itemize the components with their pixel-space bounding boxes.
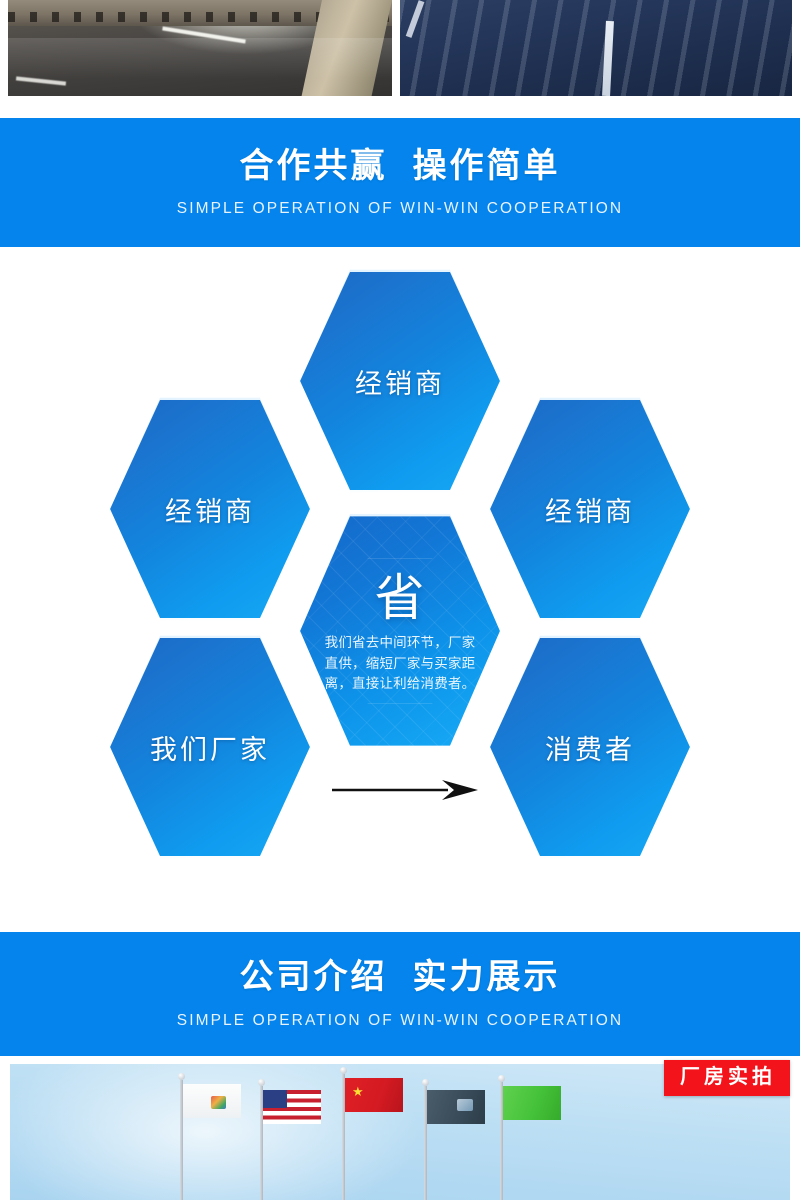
section-banner-cooperation: 合作共赢 操作简单 SIMPLE OPERATION OF WIN-WIN CO… (0, 118, 800, 247)
flow-arrow-right-icon (330, 777, 478, 803)
section-banner-company: 公司介绍 实力展示 SIMPLE OPERATION OF WIN-WIN CO… (0, 932, 800, 1056)
banner-subtitle-en: SIMPLE OPERATION OF WIN-WIN COOPERATION (177, 1012, 623, 1030)
hex-node-consumer[interactable]: 消费者 (490, 631, 690, 863)
flag-china (345, 1078, 403, 1112)
flagpole-1 (180, 1080, 183, 1200)
hex-node-our-factory[interactable]: 我们厂家 (110, 631, 310, 863)
road-center-line (602, 21, 614, 96)
flagpole-2 (260, 1086, 263, 1200)
flagpole-5 (500, 1082, 503, 1200)
hex-node-dealer-top[interactable]: 经销商 (300, 265, 500, 497)
product-detail-page: 合作共赢 操作简单 SIMPLE OPERATION OF WIN-WIN CO… (0, 0, 800, 1200)
banner-subtitle-en: SIMPLE OPERATION OF WIN-WIN COOPERATION (177, 200, 623, 218)
flagpole-3 (342, 1074, 345, 1200)
center-description: 我们省去中间环节，厂家直供，缩短厂家与买家距离，直接让利给消费者。 (318, 633, 482, 696)
hex-label: 我们厂家 (150, 728, 270, 767)
road-edge-line (405, 0, 424, 38)
hex-node-dealer-left[interactable]: 经销商 (110, 393, 310, 625)
hex-label: 经销商 (165, 490, 255, 529)
banner-title-cn: 合作共赢 操作简单 (240, 147, 561, 186)
photo-highway-tunnel (8, 0, 392, 96)
status-badge-factory-photo: 厂房实拍 (664, 1060, 790, 1096)
road-sheen (8, 38, 392, 96)
photo-asphalt-lane (400, 0, 792, 96)
hexagon-layout: 经销商 经销商 经销商 我们厂家 消费者 (0, 247, 800, 932)
flag-company (183, 1084, 241, 1118)
flag-green (503, 1086, 561, 1120)
center-hex-content: 省 我们省去中间环节，厂家直供，缩短厂家与买家距离，直接让利给消费者。 (318, 567, 482, 696)
hex-label: 经销商 (355, 362, 445, 401)
tunnel-road-image (8, 0, 392, 96)
top-photo-strip (0, 0, 800, 96)
hex-node-dealer-right[interactable]: 经销商 (490, 393, 690, 625)
flag-dark (427, 1090, 485, 1124)
asphalt-road-image (400, 0, 792, 96)
hex-label: 经销商 (545, 490, 635, 529)
flag-usa (263, 1090, 321, 1124)
center-headline: 省 (375, 573, 426, 623)
hexagon-diagram-section: 经销商 经销商 经销商 我们厂家 消费者 (0, 247, 800, 932)
hex-node-center-savings[interactable]: 省 我们省去中间环节，厂家直供，缩短厂家与买家距离，直接让利给消费者。 (300, 509, 500, 753)
flagpole-group (180, 1072, 560, 1200)
banner-title-cn: 公司介绍 实力展示 (240, 958, 561, 997)
hex-label: 消费者 (545, 728, 635, 767)
flagpole-4 (424, 1086, 427, 1200)
